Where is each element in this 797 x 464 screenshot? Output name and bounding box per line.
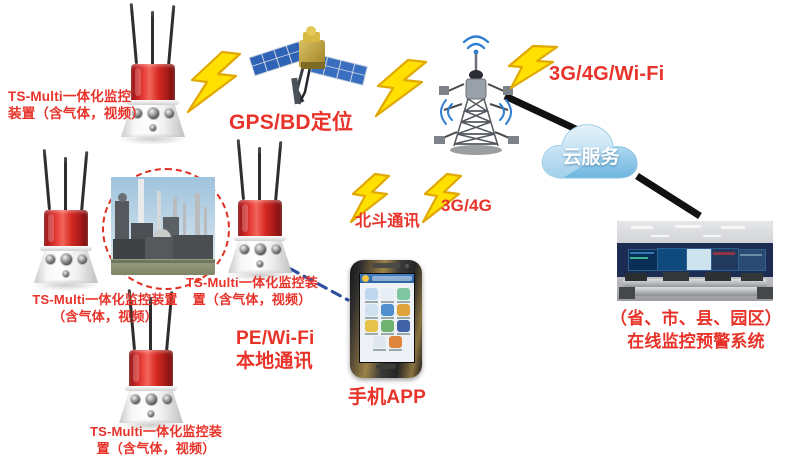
label-pe-wifi: PE/Wi-Fi 本地通讯: [236, 328, 314, 374]
label-gps-bd: GPS/BD定位: [229, 110, 353, 137]
label-device-mid-right: TS-Multi一体化监控装 置（含气体，视频）: [164, 275, 340, 308]
label-phone-app: 手机APP: [340, 386, 434, 410]
sensor-device-2: [18, 150, 114, 310]
cloud-service: 云服务: [537, 116, 645, 186]
label-beidou: 北斗通讯: [355, 212, 420, 232]
label-device-bottom: TS-Multi一体化监控装 置（含气体，视频）: [62, 424, 250, 457]
label-3g4g: 3G/4G: [441, 195, 492, 217]
label-monitoring-center: （省、市、县、园区） 在线监控预警系统: [600, 308, 792, 354]
industrial-plant-photo: [111, 177, 215, 275]
link-cloud-controlroom: [637, 176, 700, 216]
sensor-device-1: [105, 4, 201, 164]
cloud-label: 云服务: [537, 142, 645, 169]
bolt-satellite-to-tower: [374, 58, 436, 125]
diagram-canvas: 云服务: [0, 0, 797, 464]
label-3g4g-wifi: 3G/4G/Wi-Fi: [549, 62, 664, 88]
satellite: [241, 12, 373, 115]
label-device-top-left: TS-Multi一体化监控 装置（含气体，视频）: [8, 88, 145, 123]
handheld-terminal[interactable]: [350, 260, 422, 378]
monitoring-center-photo: [617, 221, 773, 301]
handheld-screen[interactable]: [359, 273, 415, 363]
